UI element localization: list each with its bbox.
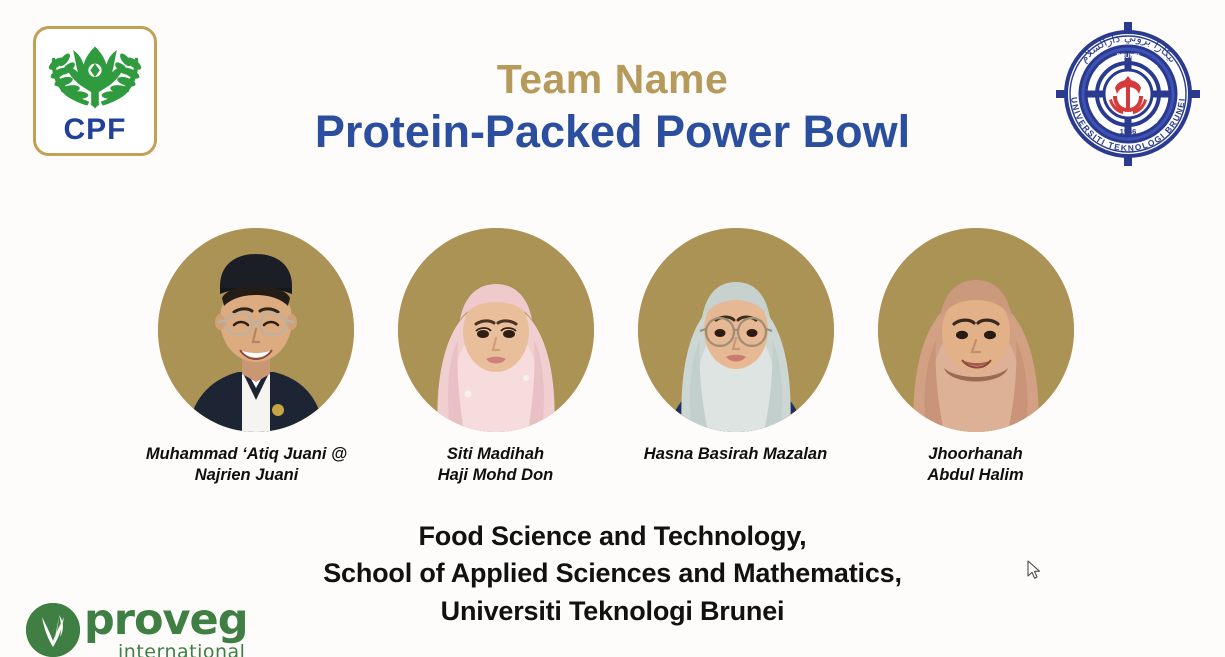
- member-portrait: [638, 228, 834, 432]
- member-name: Siti Madihah Haji Mohd Don: [396, 444, 596, 487]
- proveg-wordmark: proveg: [84, 599, 248, 642]
- presentation-slide: CPF: [0, 0, 1225, 657]
- member-name: Muhammad ‘Atiq Juani @ Najrien Juani: [122, 444, 372, 487]
- team-name-label: Team Name: [0, 58, 1225, 101]
- member-name: Hasna Basirah Mazalan: [612, 444, 860, 465]
- team-member: Muhammad ‘Atiq Juani @ Najrien Juani: [148, 228, 363, 487]
- affiliation-line-1: Food Science and Technology,: [0, 518, 1225, 555]
- portrait-photo-2: [398, 228, 594, 432]
- affiliation-line-2: School of Applied Sciences and Mathemati…: [0, 555, 1225, 592]
- team-member: Hasna Basirah Mazalan: [628, 228, 843, 465]
- member-portrait: [158, 228, 354, 432]
- member-portrait: [878, 228, 1074, 432]
- portrait-photo-3: [638, 228, 834, 432]
- team-name-value: Protein-Packed Power Bowl: [0, 104, 1225, 160]
- team-member: Jhoorhanah Abdul Halim: [868, 228, 1083, 487]
- member-portrait: [398, 228, 594, 432]
- team-members-row: Muhammad ‘Atiq Juani @ Najrien Juani: [148, 228, 1083, 487]
- title-block: Team Name Protein-Packed Power Bowl: [0, 58, 1225, 160]
- portrait-photo-4: [878, 228, 1074, 432]
- proveg-subtitle: international: [118, 641, 245, 657]
- member-name: Jhoorhanah Abdul Halim: [876, 444, 1076, 487]
- proveg-leaf-icon: [26, 603, 80, 657]
- proveg-logo: proveg international: [26, 597, 241, 657]
- team-member: Siti Madihah Haji Mohd Don: [388, 228, 603, 487]
- portrait-photo-1: [158, 228, 354, 432]
